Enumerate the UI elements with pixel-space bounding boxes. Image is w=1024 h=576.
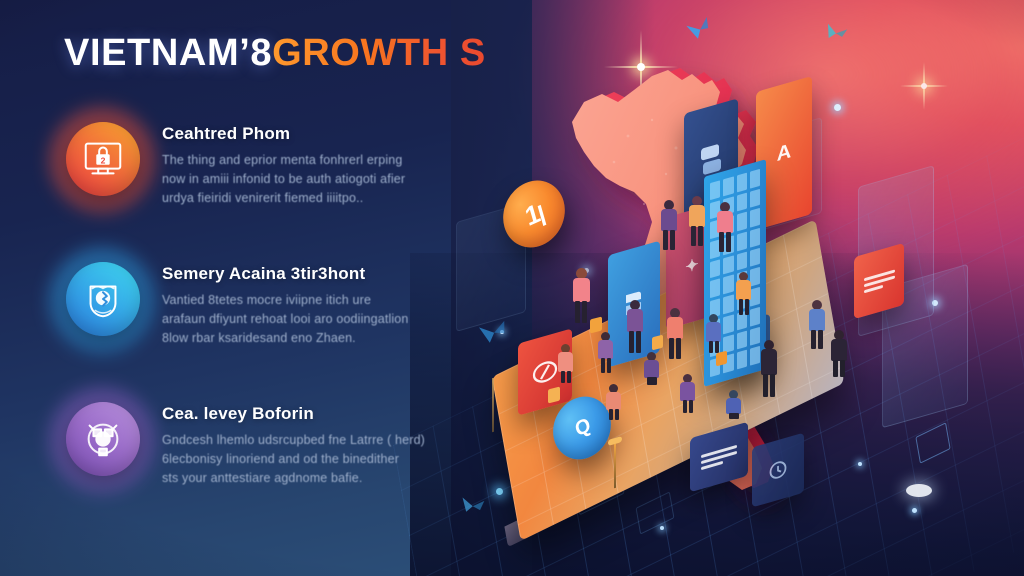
street-lamp xyxy=(492,378,494,433)
body-line: arafaun dfiyunt rehoat looi aro oodiinga… xyxy=(162,310,456,329)
panel-news-lines xyxy=(701,441,737,472)
body-line: Vantied 8tetes mocre iviipne itich ure xyxy=(162,291,456,310)
shopping-bag xyxy=(716,351,727,367)
shopping-bag xyxy=(652,335,663,351)
isometric-illustration: A ✦ xyxy=(430,0,1024,576)
svg-text:2: 2 xyxy=(101,155,106,165)
person-figure xyxy=(736,272,752,316)
shield-badge-icon[interactable] xyxy=(66,262,140,336)
monitor-lock-icon[interactable]: 2 xyxy=(66,122,140,196)
person-figure xyxy=(644,352,660,386)
street-lamp xyxy=(614,444,616,489)
bird-icon xyxy=(821,21,848,46)
person-figure xyxy=(716,202,734,254)
panel-list-lines xyxy=(864,266,895,296)
infographic-canvas: A ✦ xyxy=(0,0,1024,576)
body-line: The thing and eprior menta fonhrerl erpi… xyxy=(162,151,456,170)
feature-card-3-title: Cea. levey Boforin xyxy=(162,404,456,424)
feature-card-2-text: Semery Acaina 3tir3hont Vantied 8tetes m… xyxy=(162,252,456,348)
sparkle-star xyxy=(900,62,948,110)
person-figure xyxy=(598,332,614,374)
person-figure xyxy=(572,268,590,324)
person-figure xyxy=(606,384,622,420)
feature-card-1-text: Ceahtred Phom The thing and eprior menta… xyxy=(162,112,456,208)
feature-icon-3-wrap xyxy=(56,394,148,486)
panel-glyph-a: A xyxy=(777,139,791,166)
feature-icon-2-wrap xyxy=(56,254,148,346)
body-line: urdya fieiridi venirerit fiemed iiiitpo.… xyxy=(162,189,456,208)
person-figure xyxy=(726,390,742,420)
person-figure xyxy=(760,340,778,398)
person-figure xyxy=(706,314,722,354)
feature-card-2-body: Vantied 8tetes mocre iviipne itich ure a… xyxy=(162,291,456,348)
feature-card-3-body: Gndcesh lhemlo udsrcupbed fne Latrre ( h… xyxy=(162,431,456,488)
body-line: 8low rbar ksaridesand eno Zhaen. xyxy=(162,329,456,348)
blue-coin-glyph: Q xyxy=(573,414,592,442)
network-hub-icon[interactable] xyxy=(66,402,140,476)
orange-coin-glyph: 1ꞁ xyxy=(522,195,547,232)
person-figure xyxy=(660,200,678,252)
bird-icon xyxy=(458,493,486,516)
person-figure xyxy=(688,196,706,248)
title-accent-part: GROWTH S xyxy=(272,32,486,74)
feature-card-2[interactable]: Semery Acaina 3tir3hont Vantied 8tetes m… xyxy=(56,252,456,392)
title-white-part: VIETNAM’8 xyxy=(64,32,272,74)
person-figure xyxy=(680,374,696,414)
feature-card-3-text: Cea. levey Boforin Gndcesh lhemlo udsrcu… xyxy=(162,392,456,488)
feature-card-1-title: Ceahtred Phom xyxy=(162,124,456,144)
brand-mark-icon xyxy=(531,354,559,390)
feature-card-list: 2 Ceahtred Phom The thing and eprior men… xyxy=(56,112,456,532)
person-figure xyxy=(626,300,644,354)
person-figure xyxy=(558,344,574,384)
person-figure xyxy=(666,308,684,360)
person-figure xyxy=(830,330,848,378)
panel-glyph-shop: ✦ xyxy=(685,254,698,278)
shopping-bag xyxy=(548,387,560,404)
body-line: 6lecbonisy linoriend and od the binedith… xyxy=(162,450,456,469)
bird-icon xyxy=(683,15,715,44)
page-title: VIETNAM’8GROWTH S xyxy=(64,34,486,72)
body-line: Gndcesh lhemlo udsrcupbed fne Latrre ( h… xyxy=(162,431,456,450)
feature-icon-1-wrap: 2 xyxy=(56,114,148,206)
body-line: sts your anttestiare agdnome bafie. xyxy=(162,469,456,488)
clock-icon xyxy=(768,457,788,483)
body-line: now in amiii infonid to be auth atiogoti… xyxy=(162,170,456,189)
light-dot xyxy=(496,488,503,495)
feature-card-3[interactable]: Cea. levey Boforin Gndcesh lhemlo udsrcu… xyxy=(56,392,456,532)
shopping-bag xyxy=(590,317,602,334)
person-figure xyxy=(808,300,826,350)
feature-card-1-body: The thing and eprior menta fonhrerl erpi… xyxy=(162,151,456,208)
feature-card-2-title: Semery Acaina 3tir3hont xyxy=(162,264,456,284)
feature-card-1[interactable]: 2 Ceahtred Phom The thing and eprior men… xyxy=(56,112,456,252)
